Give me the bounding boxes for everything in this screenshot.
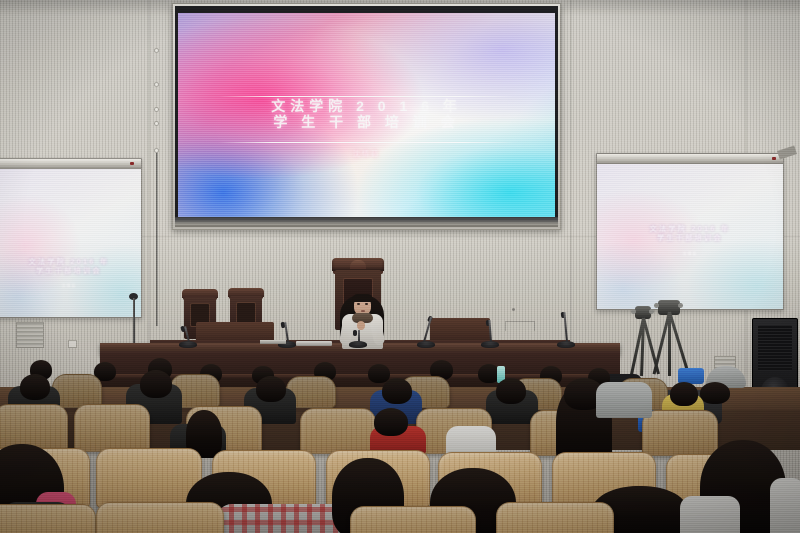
tripod-knob-4	[678, 303, 683, 308]
main-screen-surface: 文法学院 2 0 1 6 年 学 生 干 部 培 训 会 沈情茹	[178, 13, 555, 217]
bench-document-tray-2	[260, 340, 286, 344]
left-screen-wash	[0, 169, 141, 317]
left-roller-label	[130, 162, 134, 165]
wall-socket	[68, 340, 77, 348]
left-screen-title-line-2: 学生干部培训会	[0, 268, 141, 277]
audience-coat-d3	[770, 478, 800, 533]
seat-b7	[642, 410, 718, 456]
mic-base-3	[349, 341, 367, 348]
left-side-screen: 文法学院 2016 年 学生干部培训会 沈情茹	[0, 168, 142, 318]
cable-clip-4	[154, 121, 159, 126]
wall-seam-vertical-1	[148, 0, 150, 392]
right-screen-title-line-1: 文法学院 2016 年	[597, 226, 783, 235]
audience-coat-c3	[596, 382, 652, 418]
right-screen-slide-subtitle: 沈情茹	[597, 251, 783, 257]
lecture-hall-photo: 文法学院 2016 年 学生干部培训会 沈情茹 文法学院 2016 年 学生干部…	[0, 0, 800, 533]
cable-clip-3	[154, 107, 159, 112]
speaker-hand	[357, 321, 365, 330]
tripod-knob-1	[631, 309, 636, 314]
slide-title-line-1: 文法学院 2 0 1 6 年	[178, 98, 555, 115]
audience-head-b4	[382, 378, 412, 404]
seat-e1	[0, 504, 96, 533]
main-screen-bottom-lip	[175, 217, 558, 227]
left-screen-slide-subtitle: 沈情茹	[0, 283, 141, 289]
slide-subtitle: 沈情茹	[178, 149, 555, 159]
mic-base-5	[481, 341, 499, 348]
wall-dot	[512, 308, 515, 311]
tripod-knob-3	[654, 303, 659, 308]
bench-document-tray	[296, 341, 332, 346]
speaker-mouth	[361, 310, 365, 312]
mic-head-3	[353, 330, 357, 336]
mic-neck-5	[488, 320, 492, 342]
main-projection-screen: 文法学院 2 0 1 6 年 学 生 干 部 培 训 会 沈情茹	[172, 3, 561, 230]
mic-base-4	[417, 341, 435, 348]
seat-e3	[350, 506, 476, 533]
floor-mic-stand	[133, 298, 135, 348]
speaker-fringe	[352, 294, 373, 302]
right-screen-title-line-2: 学生干部培训会	[597, 235, 783, 244]
cable-clip-1	[154, 48, 159, 53]
mic-neck-6	[563, 312, 568, 342]
seat-b4	[300, 408, 376, 454]
wall-cable	[156, 150, 158, 326]
speaker-eye-left	[357, 303, 360, 305]
right-side-screen: 文法学院 2016 年 学生干部培训会 沈情茹	[596, 163, 784, 310]
bench-microphone-1	[178, 326, 198, 348]
speaker-eye-right	[365, 303, 368, 305]
bench-microphone-5	[480, 320, 500, 348]
slide-rule-bottom	[219, 142, 513, 143]
audience-coat-d2	[680, 496, 740, 533]
bench-microphone-4	[416, 316, 436, 348]
audience-head-b6	[670, 382, 698, 406]
slide-title-line-2: 学 生 干 部 培 训 会	[178, 114, 555, 131]
mic-neck-1	[184, 326, 190, 342]
audience-head-b5	[496, 378, 526, 404]
audience-head-b2	[140, 370, 172, 398]
seat-b2	[74, 404, 150, 452]
cable-clip-5	[154, 148, 159, 153]
audience-head-b1	[20, 374, 50, 400]
bench-microphone-3	[348, 330, 368, 348]
seat-e4	[496, 502, 614, 533]
slide-rule-top	[219, 96, 513, 97]
seat-e2	[96, 502, 224, 533]
right-roller-label	[772, 157, 776, 160]
bench-microphone-2	[277, 322, 297, 348]
audience-head-b3	[256, 376, 286, 402]
mic-base-6	[557, 341, 575, 348]
audience-head-a12	[700, 382, 730, 404]
wall-vent-left	[16, 322, 44, 348]
wall-notch-outline	[505, 321, 535, 331]
left-screen-title-line-1: 文法学院 2016 年	[0, 259, 141, 268]
slide-title-block: 文法学院 2 0 1 6 年 学 生 干 部 培 训 会	[178, 98, 555, 131]
mic-base-1	[179, 341, 197, 348]
left-screen-slide-title: 文法学院 2016 年 学生干部培训会	[0, 259, 141, 277]
seated-audience	[0, 352, 800, 533]
cable-clip-2	[154, 82, 159, 87]
audience-head-c1	[374, 408, 408, 436]
bench-microphone-6	[556, 312, 576, 348]
right-screen-slide-title: 文法学院 2016 年 学生干部培训会	[597, 226, 783, 244]
